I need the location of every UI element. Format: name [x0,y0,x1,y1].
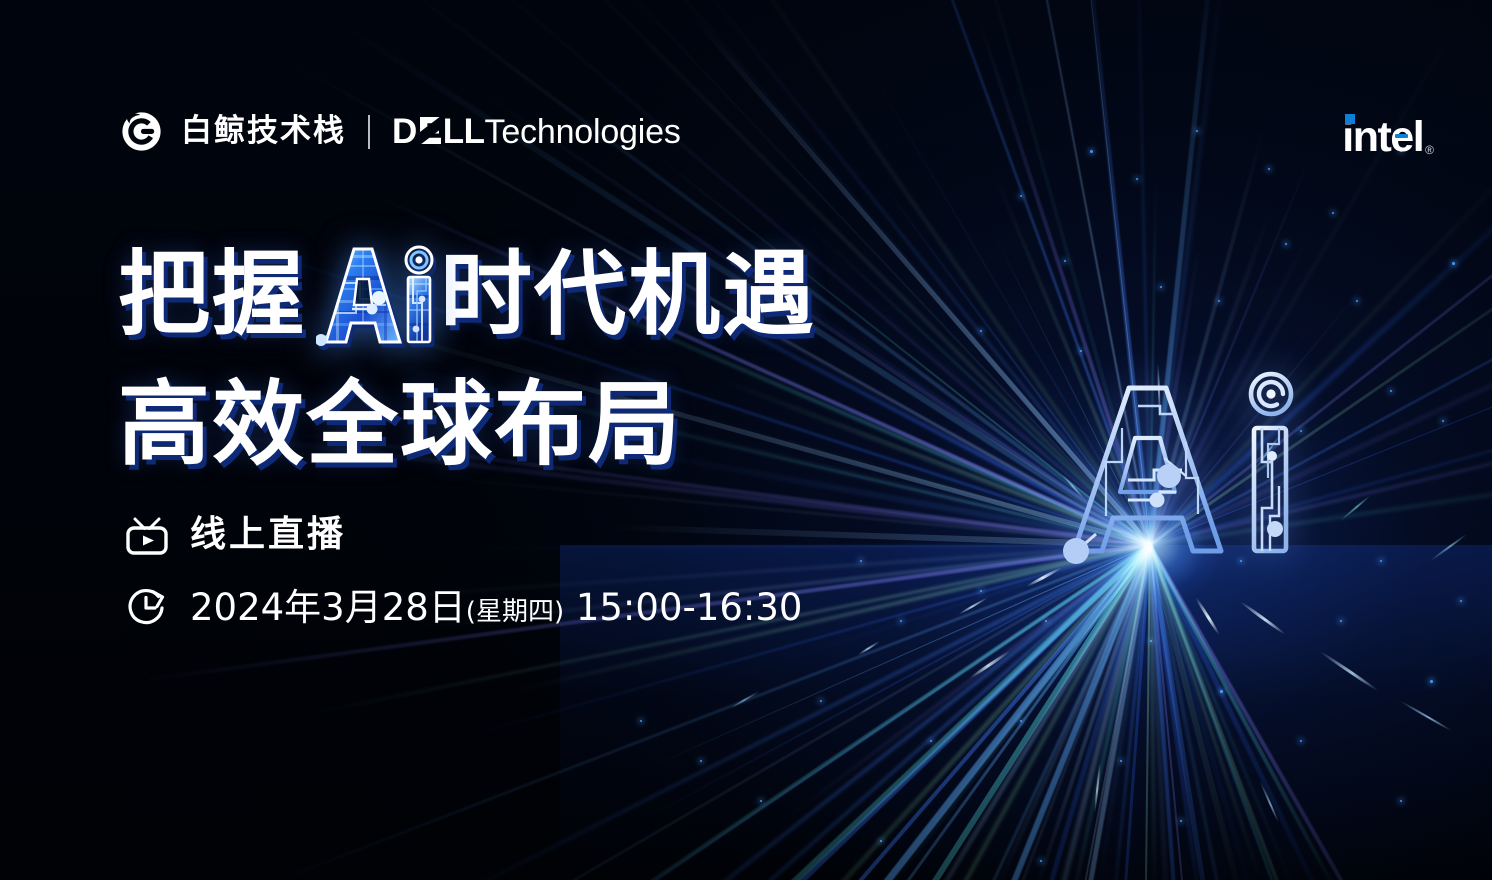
event-info-block: 线上直播 2024年3月28日(星期四) 15:00-16:30 [124,512,802,630]
clock-refresh-icon [124,584,170,630]
sparkle-dot [640,720,642,722]
headline-line-2: 高效全球布局 [118,366,816,484]
sparkle-dot [1150,640,1152,642]
sparkle-dot [1064,260,1066,262]
sparkle-dot [1040,860,1042,862]
sparkle-dot [1460,600,1462,602]
sparkle-dot [900,620,902,622]
sparkle-dot [1020,195,1022,197]
dell-letters-ll: LL [443,114,485,149]
sparkle-dot [1390,390,1392,392]
info-line-live: 线上直播 [124,512,802,558]
sparkle-dot [1196,130,1198,132]
ai-circuit-outline-icon [1036,366,1312,566]
whale-g-circle-icon [118,108,165,155]
comet-streak [958,596,989,615]
sparkle-dot [980,590,982,592]
comet-streak [1429,533,1468,562]
sparkle-dot [1442,420,1444,422]
sparkle-dot [1332,212,1334,214]
info-datetime-text: 2024年3月28日(星期四) 15:00-16:30 [190,589,802,626]
sparkle-dot [1220,690,1223,693]
event-time: 15:00-16:30 [564,586,802,629]
sparkle-dot [700,760,702,762]
sparkle-dot [1020,720,1022,722]
sparkle-dot [820,700,822,702]
comet-streak [1239,600,1286,635]
dell-slashed-e-icon [417,115,443,149]
sparkle-dot [1090,150,1093,153]
dell-wordmark: D LL [392,114,485,149]
headline-line1-after: 时代机遇 [440,249,816,341]
sparkle-dot [880,840,882,842]
info-line-datetime: 2024年3月28日(星期四) 15:00-16:30 [124,584,802,630]
sparkle-dot [1340,620,1342,622]
intel-blue-bar-icon [1395,134,1408,138]
brand-lockup: 白鲸技术栈 D LL Technologies [118,108,681,155]
tv-live-broadcast-icon [124,512,170,558]
intel-wordmark: intel [1342,116,1423,159]
comet-streak [1339,495,1371,522]
headline-line2-text: 高效全球布局 [118,379,682,471]
brand-divider [368,115,370,149]
sparkle-dot [930,740,932,742]
sparkle-dot [1120,760,1122,762]
intel-logo: intel ® [1342,116,1434,159]
sparkle-dot [1268,168,1270,170]
sparkle-dot [1285,243,1287,245]
comet-streak [1399,700,1452,732]
event-date: 2024年3月28日 [190,586,466,629]
sparkle-dot [760,800,762,802]
brand-name: 白鲸技术栈 [181,116,346,147]
comet-streak [857,640,880,656]
dell-letter-d: D [392,114,417,149]
sparkle-dot [1045,620,1047,622]
comet-streak [1319,650,1378,691]
sparkle-dot [1180,820,1182,822]
sparkle-dot [1160,286,1162,288]
comet-streak [1093,761,1101,813]
sparkle-dot [1080,350,1082,352]
sparkle-dot [1300,740,1302,742]
sparkle-dot [980,330,982,332]
sparkle-dot [1356,300,1358,302]
sparkle-dot [1452,262,1455,265]
comet-streak [730,690,760,709]
intel-registered-mark: ® [1425,144,1434,156]
headline-line-1: 把握 [118,236,816,354]
comet-streak [1259,781,1280,824]
event-weekday: (星期四) [466,597,564,627]
comet-streak [969,650,1010,679]
headline-block: 把握 [118,236,816,484]
sparkle-dot [860,560,862,562]
ai-tech-letters-icon [316,243,434,347]
headline-line1-before: 把握 [118,249,306,341]
dell-technologies-word: Technologies [485,115,681,149]
sparkle-dot [1400,800,1402,802]
sparkle-dot [1136,178,1138,180]
poster-canvas: 白鲸技术栈 D LL Technologies intel [0,0,1492,880]
dell-technologies-logo: D LL Technologies [392,114,681,149]
sparkle-dot [1430,680,1433,683]
sparkle-dot [1380,560,1382,562]
comet-streak [1026,566,1063,587]
info-live-text: 线上直播 [190,517,346,553]
intel-blue-square-icon [1345,114,1355,124]
sparkle-dot [1218,300,1220,302]
